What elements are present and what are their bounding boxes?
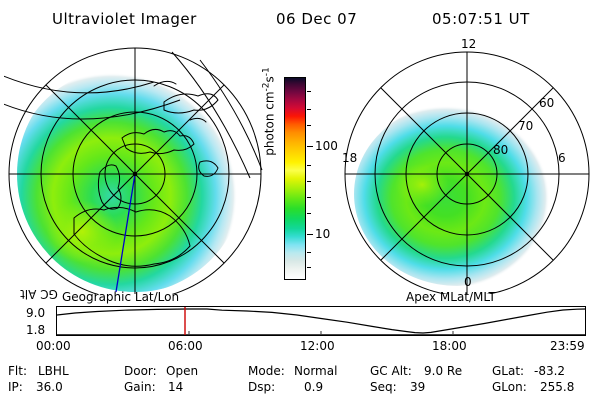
status-mode-label: Mode: xyxy=(248,364,285,378)
status-row-2: IP: 36.0 Gain: 14 Dsp: 0.9 Seq: 39 GLon:… xyxy=(0,380,600,396)
status-flt-value: LBHL xyxy=(38,364,69,378)
geographic-image-panel xyxy=(4,42,266,294)
gc-alt-tick-high: 9.0 xyxy=(26,307,45,319)
status-dsp-value: 0.9 xyxy=(304,380,323,394)
pole-marker xyxy=(133,172,137,176)
geographic-panel-subtitle: Geographic Lat/Lon xyxy=(62,291,179,303)
colorbar-minor-tick xyxy=(307,267,311,268)
time-tick-1800: 18:00 xyxy=(432,340,467,352)
mlt-label-0: 0 xyxy=(464,276,472,288)
status-door-label: Door: xyxy=(124,364,157,378)
status-ip-value: 36.0 xyxy=(36,380,63,394)
uvi-screenshot: Ultraviolet Imager 06 Dec 07 05:07:51 UT xyxy=(0,0,600,400)
colorbar-axis-label: photon cm-2s-1 xyxy=(263,37,276,187)
magnetic-image-panel: 12 18 6 0 60 70 80 xyxy=(336,42,598,294)
mlt-label-6: 6 xyxy=(558,152,566,164)
intensity-colorbar: 100 10 xyxy=(284,77,306,280)
orbit-altitude-plot[interactable] xyxy=(56,306,586,336)
magnetic-panel-subtitle: Apex MLat/MLT xyxy=(406,291,496,303)
mlat-label-80: 80 xyxy=(493,144,508,156)
status-ip-label: IP: xyxy=(8,380,23,394)
colorbar-minor-tick xyxy=(307,197,311,198)
colorbar-tick-10 xyxy=(307,234,313,235)
colorbar-tick-100 xyxy=(307,146,313,147)
status-gain-value: 14 xyxy=(168,380,183,394)
colorbar-minor-tick xyxy=(307,181,311,182)
instrument-title: Ultraviolet Imager xyxy=(52,12,197,27)
colorbar-unit-exp2: -1 xyxy=(262,67,272,76)
colorbar-unit-exp1: -2 xyxy=(262,82,272,91)
gc-alt-tick-low: 1.8 xyxy=(26,324,45,336)
time-tick-1200: 12:00 xyxy=(300,340,335,352)
status-gain-label: Gain: xyxy=(124,380,156,394)
time-tick-2359: 23:59 xyxy=(550,340,585,352)
mlt-label-12: 12 xyxy=(461,38,476,50)
colorbar-minor-tick xyxy=(307,213,311,214)
time-tick-0000: 00:00 xyxy=(36,340,71,352)
status-readout: Flt: LBHL Door: Open Mode: Normal GC Alt… xyxy=(0,364,600,396)
mlt-label-18: 18 xyxy=(342,152,357,164)
status-glat-value: -83.2 xyxy=(534,364,565,378)
orbit-altitude-trace xyxy=(57,309,585,333)
colorbar-minor-tick xyxy=(307,109,311,110)
magnetic-pole-marker xyxy=(465,172,469,176)
observation-time: 05:07:51 UT xyxy=(432,12,530,27)
colorbar-unit-mid: s xyxy=(263,76,277,82)
colorbar-minor-tick xyxy=(307,165,311,166)
status-row-1: Flt: LBHL Door: Open Mode: Normal GC Alt… xyxy=(0,364,600,380)
status-door-value: Open xyxy=(166,364,198,378)
status-glat-label: GLat: xyxy=(492,364,524,378)
colorbar-minor-tick xyxy=(307,91,311,92)
status-seq-label: Seq: xyxy=(370,380,397,394)
colorbar-minor-tick xyxy=(307,252,311,253)
header-bar: Ultraviolet Imager 06 Dec 07 05:07:51 UT xyxy=(0,8,600,32)
colorbar-label-100: 100 xyxy=(315,139,338,153)
time-tick-0600: 06:00 xyxy=(168,340,203,352)
status-dsp-label: Dsp: xyxy=(248,380,275,394)
colorbar-minor-tick xyxy=(307,125,311,126)
mlat-label-60: 60 xyxy=(539,97,554,109)
mlat-label-70: 70 xyxy=(518,120,533,132)
colorbar-gradient xyxy=(284,77,306,280)
status-glon-label: GLon: xyxy=(492,380,527,394)
observation-date: 06 Dec 07 xyxy=(276,12,357,27)
status-gcalt-value: 9.0 Re xyxy=(424,364,462,378)
status-glon-value: 255.8 xyxy=(540,380,574,394)
status-flt-label: Flt: xyxy=(8,364,27,378)
colorbar-unit-main: photon cm xyxy=(263,91,277,155)
colorbar-label-10: 10 xyxy=(315,227,330,241)
status-gcalt-label: GC Alt: xyxy=(370,364,412,378)
status-mode-value: Normal xyxy=(294,364,337,378)
gc-alt-axis-title-text: GC Alt xyxy=(16,288,62,300)
status-seq-value: 39 xyxy=(410,380,425,394)
